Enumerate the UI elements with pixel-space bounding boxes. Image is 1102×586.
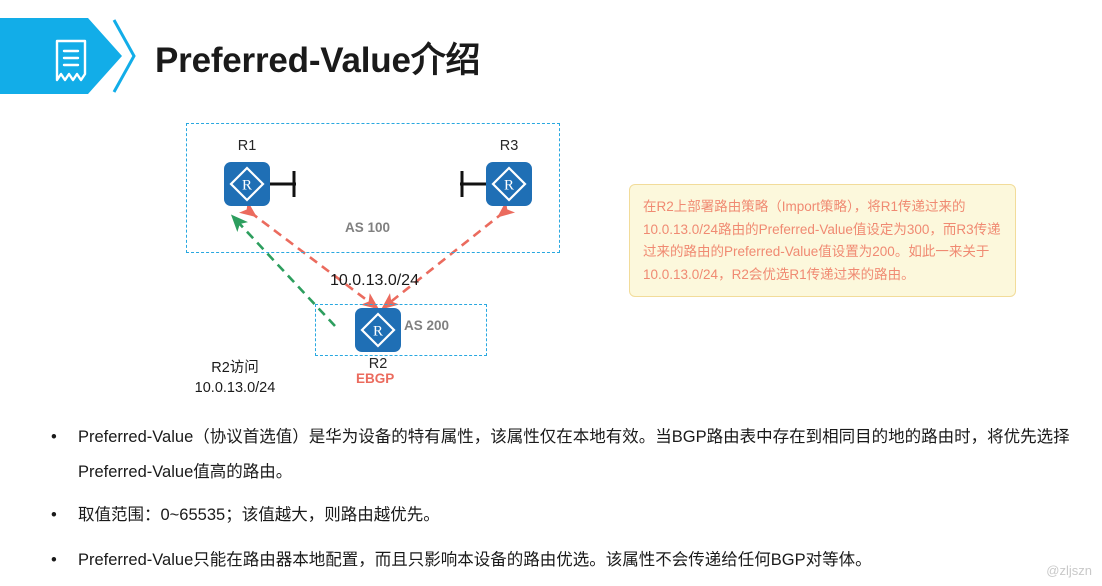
access-flow-label-line1: R2访问 [180,358,290,378]
subnet-label: 10.0.13.0/24 [330,272,419,290]
svg-text:R: R [242,178,252,194]
bullet-marker: • [51,543,57,578]
node-label-r1: R1 [224,138,270,154]
access-flow-label: R2访问 10.0.13.0/24 [180,358,290,398]
zone-label-as200: AS 200 [404,318,449,333]
router-icon-r2[interactable]: R [355,308,401,352]
bullet-item: • Preferred-Value（协议首选值）是华为设备的特有属性，该属性仅在… [42,420,1077,490]
svg-text:R: R [504,178,514,194]
bullet-text: Preferred-Value只能在路由器本地配置，而且只影响本设备的路由优选。… [78,551,872,569]
page-header: Preferred-Value介绍 [0,0,1102,108]
svg-text:R: R [373,324,383,340]
access-flow-label-line2: 10.0.13.0/24 [180,378,290,398]
node-label-r2: R2 [355,356,401,372]
router-icon-r3[interactable]: R [486,162,532,206]
protocol-label-ebgp: EBGP [356,371,394,386]
bullet-item: • 取值范围：0~65535；该值越大，则路由越优先。 [42,498,1077,533]
page-title: Preferred-Value介绍 [155,32,480,83]
bullet-marker: • [51,420,57,455]
header-banner-chevron-outline [112,18,138,94]
bullet-text: Preferred-Value（协议首选值）是华为设备的特有属性，该属性仅在本地… [78,428,1070,481]
node-label-r3: R3 [486,138,532,154]
zone-label-as100: AS 100 [345,220,390,235]
as-zone-as200 [315,304,487,356]
bullet-text: 取值范围：0~65535；该值越大，则路由越优先。 [78,506,440,524]
callout-note: 在R2上部署路由策略（Import策略），将R1传递过来的10.0.13.0/2… [629,184,1016,297]
watermark: @zljszn [1046,563,1092,578]
router-icon-r1[interactable]: R [224,162,270,206]
bullet-item: • Preferred-Value只能在路由器本地配置，而且只影响本设备的路由优… [42,543,1077,578]
bullet-marker: • [51,498,57,533]
bullet-list: • Preferred-Value（协议首选值）是华为设备的特有属性，该属性仅在… [42,420,1077,578]
document-receipt-icon [50,38,92,84]
